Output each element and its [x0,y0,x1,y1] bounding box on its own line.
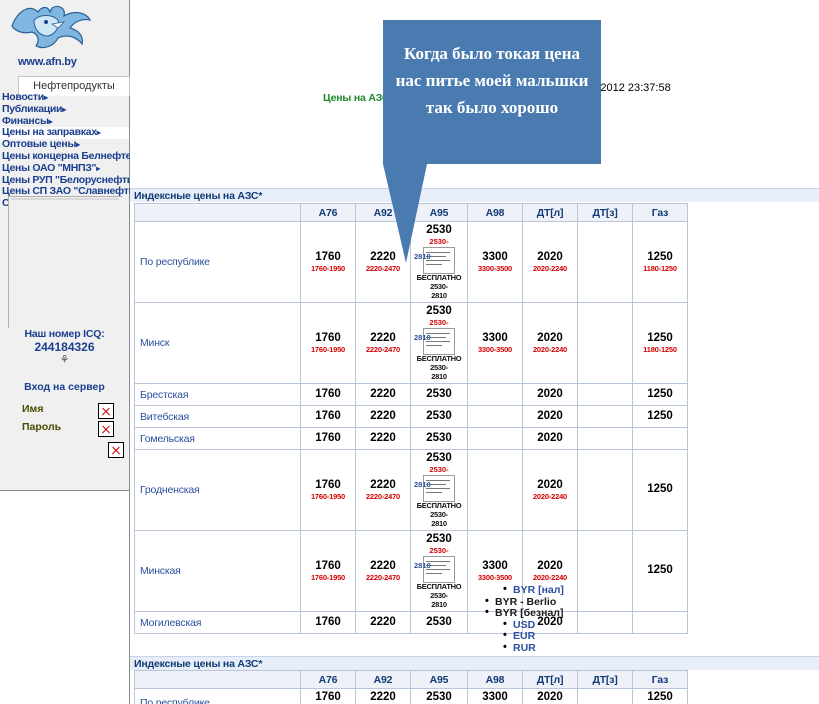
price-cell: 1760 [301,612,356,634]
price-cell: 12501180-1250 [633,222,688,303]
price-value: 2530 [411,410,467,423]
column-header-a76: А76 [301,204,356,222]
chevron-right-icon: ▸ [96,164,100,173]
price-value: 1760 [301,410,355,423]
page-title: Цены на АЗС [323,92,389,104]
price-cell: 2220 [356,428,411,450]
price-cell: 2530 [411,384,468,406]
login-name-row: Имя [0,403,129,421]
sidebar-item-label: Цены концерна Белнефтехим [2,150,150,162]
region-cell[interactable]: По республике [135,222,301,303]
promo-price-cell: 25302530-2810БЕСПЛАТНО 2530-2810 [411,450,468,531]
sidebar-item-label: Финансы [2,115,49,127]
price-value: 2220 [356,479,410,492]
price-cell [578,406,633,428]
price-cell: 17601760-1950 [301,689,356,704]
price-range: 2020-2240 [523,345,577,354]
price-cell: 1250 [633,450,688,531]
chevron-right-icon: ▸ [97,128,101,137]
price-range: 2020-2240 [523,492,577,501]
promo-range: 2530- [411,465,467,474]
price-cell: 1250 [633,384,688,406]
price-cell [468,428,523,450]
promo-caption: 2810 [411,600,467,609]
price-table: А76 А92 А95 А98 ДТ[л] ДТ[з] Газ По респу… [134,203,688,634]
column-header-a95: А95 [411,671,468,689]
price-range: 2020-2240 [523,573,577,582]
price-cell [578,303,633,384]
price-value: 2220 [356,560,410,573]
chevron-right-icon: ▸ [76,140,80,149]
promo-blue-value: 2810 [414,561,431,570]
currency-label: BYR [нал] [513,584,564,596]
price-value: 2530 [411,616,467,629]
price-value: 1760 [301,432,355,445]
broken-image-icon-password-field[interactable] [98,421,114,437]
price-value: 1250 [633,388,687,401]
sidebar-item-label: Публикации [2,103,62,115]
price-cell: 22202220-2470 [356,450,411,531]
price-cell: 2530 [411,428,468,450]
price-range: 2220-2470 [356,573,410,582]
promo-caption: 2810 [411,519,467,528]
price-cell: 2220 [356,612,411,634]
region-cell[interactable]: Гомельская [135,428,301,450]
price-cell [578,384,633,406]
price-cell: 2020 [523,428,578,450]
sidebar-empty-panel [8,196,122,328]
column-header-a76: А76 [301,671,356,689]
table-row: Брестская17602220253020201250 [135,384,688,406]
price-value: 2020 [523,388,577,401]
login-title: Вход на сервер [0,381,129,393]
price-value: 1760 [301,332,355,345]
region-cell[interactable]: Минская [135,531,301,612]
price-value: 2020 [523,410,577,423]
price-cell: 2220 [356,384,411,406]
price-value: 1760 [301,388,355,401]
price-value: 2020 [523,251,577,264]
price-cell: 2020 [523,384,578,406]
price-value: 1760 [301,479,355,492]
price-cell [468,450,523,531]
price-cell [578,428,633,450]
currency-list-bottom: BYR [нал] BYR - Berlio BYR [безнал] USD … [485,585,645,654]
sidebar: www.afn.by Нефтепродукты Новости▸ Публик… [0,0,130,704]
panel-strip [11,198,119,200]
price-value: 2220 [356,432,410,445]
chevron-right-icon: ▸ [49,117,53,126]
promo-caption: БЕСПЛАТНО 2530- [411,582,467,600]
sidebar-item-label: Цены РУП "Белоруснефть" [2,174,138,186]
column-header-a92: А92 [356,671,411,689]
currency-label: USD [513,619,535,631]
column-header-region [135,671,301,689]
price-value: 1760 [301,616,355,629]
currency-label: RUR [513,642,536,654]
price-value: 1760 [301,691,355,704]
column-header-dt-l: ДТ[л] [523,671,578,689]
price-range: 3300-3500 [468,573,522,582]
price-value: 1760 [301,560,355,573]
price-value: 1250 [633,691,687,704]
promo-blue-value: 2810 [414,480,431,489]
price-cell: 20202020-2240 [523,303,578,384]
callout-text: Когда было токая цена нас питье моей мал… [396,44,589,117]
table-row: Гомельская1760222025302020 [135,428,688,450]
price-range: 3300-3500 [468,264,522,273]
price-cell: 2020 [523,406,578,428]
broken-image-icon-submit-button[interactable] [108,442,124,458]
column-header-a98: А98 [468,204,523,222]
icq-flower-icon: ⚘ [0,354,129,367]
price-value: 2220 [356,388,410,401]
price-cell: 2530 [411,406,468,428]
list-item[interactable]: BYR [безнал] [485,608,645,620]
column-header-a98: А98 [468,671,523,689]
price-cell: 17601760-1950 [301,450,356,531]
login-password-label: Пароль [22,421,61,433]
price-value: 2020 [523,432,577,445]
price-cell: 2220 [356,406,411,428]
region-cell[interactable]: По республике [135,689,301,704]
price-value: 2530 [411,691,467,704]
table-body: По республике17601760-195022202220-24702… [135,689,688,704]
column-header-dt-l: ДТ[л] [523,204,578,222]
list-item[interactable]: RUR [503,643,645,655]
icq-label: Наш номер ICQ: [0,328,129,340]
price-cell: 22202220-2470 [356,531,411,612]
price-value: 2020 [523,332,577,345]
table-body: По республике17601760-195022202220-24702… [135,222,688,634]
price-cell: 1760 [301,406,356,428]
promo-caption: БЕСПЛАТНО 2530- [411,354,467,372]
price-cell: 17601760-1950 [301,303,356,384]
sidebar-item-label: Новости [2,91,44,103]
price-range: 2220-2470 [356,345,410,354]
logo-area: www.afn.by [0,0,129,72]
price-value: 1250 [633,332,687,345]
region-cell[interactable]: Гродненская [135,450,301,531]
price-cell: 22202220-2470 [356,303,411,384]
column-header-region [135,204,301,222]
column-header-gaz: Газ [633,671,688,689]
promo-range: 2530- [411,318,467,327]
price-cell: 20202020-2240 [523,222,578,303]
sidebar-item-label: Цены ОАО "МНПЗ" [2,162,96,174]
price-cell: 33003300-3500 [468,689,523,704]
price-range: 1180-1250 [633,264,687,273]
login-password-row: Пароль [0,421,129,439]
price-cell: 20202020-2240 [523,689,578,704]
price-range: 2220-2470 [356,492,410,501]
column-header-gaz: Газ [633,204,688,222]
dragon-logo-icon [8,2,94,54]
price-value: 3300 [468,691,522,704]
price-value: 2220 [356,691,410,704]
region-cell[interactable]: Минск [135,303,301,384]
column-header-dt-z: ДТ[з] [578,671,633,689]
promo-caption: 2810 [411,372,467,381]
price-cell [633,428,688,450]
currency-label: BYR - Berlio [495,596,556,608]
promo-caption: БЕСПЛАТНО 2530- [411,273,467,291]
sidebar-item-label: Оптовые цены [2,138,76,150]
region-cell[interactable]: Могилевская [135,612,301,634]
price-cell: 1250 [633,406,688,428]
price-cell: 33003300-3500 [468,222,523,303]
broken-image-icon-name-field[interactable] [98,403,114,419]
promo-price: 2530 [411,305,467,318]
sidebar-menu: Новости▸ Публикации▸ Финансы▸ Цены на за… [0,92,129,210]
site-url[interactable]: www.afn.by [18,56,77,68]
price-value: 1250 [633,483,687,496]
price-value: 2020 [523,560,577,573]
price-value: 1760 [301,251,355,264]
price-cell [468,384,523,406]
promo-price: 2530 [411,533,467,546]
price-value: 1250 [633,564,687,577]
table-row: Витебская17602220253020201250 [135,406,688,428]
price-range: 2020-2240 [523,264,577,273]
column-header-dt-z: ДТ[з] [578,204,633,222]
price-value: 3300 [468,251,522,264]
region-cell[interactable]: Витебская [135,406,301,428]
price-cell: 22202220-2470 [356,689,411,704]
price-range: 1760-1950 [301,264,355,273]
sidebar-item-label: Цены на заправках [2,126,97,138]
price-range: 1760-1950 [301,573,355,582]
chevron-right-icon: ▸ [62,105,66,114]
currency-label: EUR [513,630,535,642]
price-range: 1180-1250 [633,345,687,354]
price-value: 1250 [633,251,687,264]
price-cell: 17601760-1950 [301,531,356,612]
price-value: 2020 [523,691,577,704]
table-row: Минск17601760-195022202220-247025302530-… [135,303,688,384]
price-cell: 33003300-3500 [468,303,523,384]
promo-price-cell: 25302530-2810БЕСПЛАТНО 2530-2810 [411,531,468,612]
price-value: 3300 [468,560,522,573]
price-cell [578,222,633,303]
table-row: По республике17601760-195022202220-24702… [135,689,688,704]
login-submit-row [0,442,129,460]
region-cell[interactable]: Брестская [135,384,301,406]
table-header: А76 А92 А95 А98 ДТ[л] ДТ[з] Газ [135,671,688,689]
chevron-right-icon: ▸ [44,93,48,102]
price-value: 3300 [468,332,522,345]
table-row: Гродненская17601760-195022202220-2470253… [135,450,688,531]
price-cell [578,450,633,531]
price-cell [468,406,523,428]
price-cell: 12501180-1250 [633,303,688,384]
icq-block: Наш номер ICQ: 244184326 ⚘ [0,328,129,367]
price-cell: 25302530- [411,689,468,704]
sidebar-bottom-box [0,490,129,704]
price-value: 2020 [523,479,577,492]
promo-blue-value: 2810 [414,333,431,342]
callout-tail-icon [380,155,470,265]
price-range: 3300-3500 [468,345,522,354]
price-value: 2220 [356,410,410,423]
price-value: 2220 [356,332,410,345]
price-cell: 2530 [411,612,468,634]
price-cell [578,689,633,704]
table-title-bottom: Индексные цены на АЗС* [130,656,819,670]
price-range: 1760-1950 [301,345,355,354]
promo-caption: БЕСПЛАТНО 2530- [411,501,467,519]
price-value: 2220 [356,616,410,629]
promo-range: 2530- [411,546,467,555]
price-range: 1760-1950 [301,492,355,501]
promo-price-cell: 25302530-2810БЕСПЛАТНО 2530-2810 [411,303,468,384]
price-cell: 1760 [301,428,356,450]
icq-number[interactable]: 244184326 [0,340,129,354]
price-table-bottom: А76 А92 А95 А98 ДТ[л] ДТ[з] Газ По респу… [134,670,688,704]
price-cell: 1760 [301,384,356,406]
table-title: Индексные цены на АЗС* [130,188,819,202]
table-header-row: А76 А92 А95 А98 ДТ[л] ДТ[з] Газ [135,671,688,689]
price-cell: 17601760-1950 [301,222,356,303]
price-value: 2530 [411,432,467,445]
promo-caption: 2810 [411,291,467,300]
promo-price: 2530 [411,452,467,465]
price-value: 1250 [633,410,687,423]
callout-bubble[interactable]: Когда было токая цена нас питье моей мал… [383,20,601,164]
price-value: 2530 [411,388,467,401]
login-name-label: Имя [22,403,43,415]
price-cell: 12501180-1250 [633,689,688,704]
price-cell: 20202020-2240 [523,450,578,531]
